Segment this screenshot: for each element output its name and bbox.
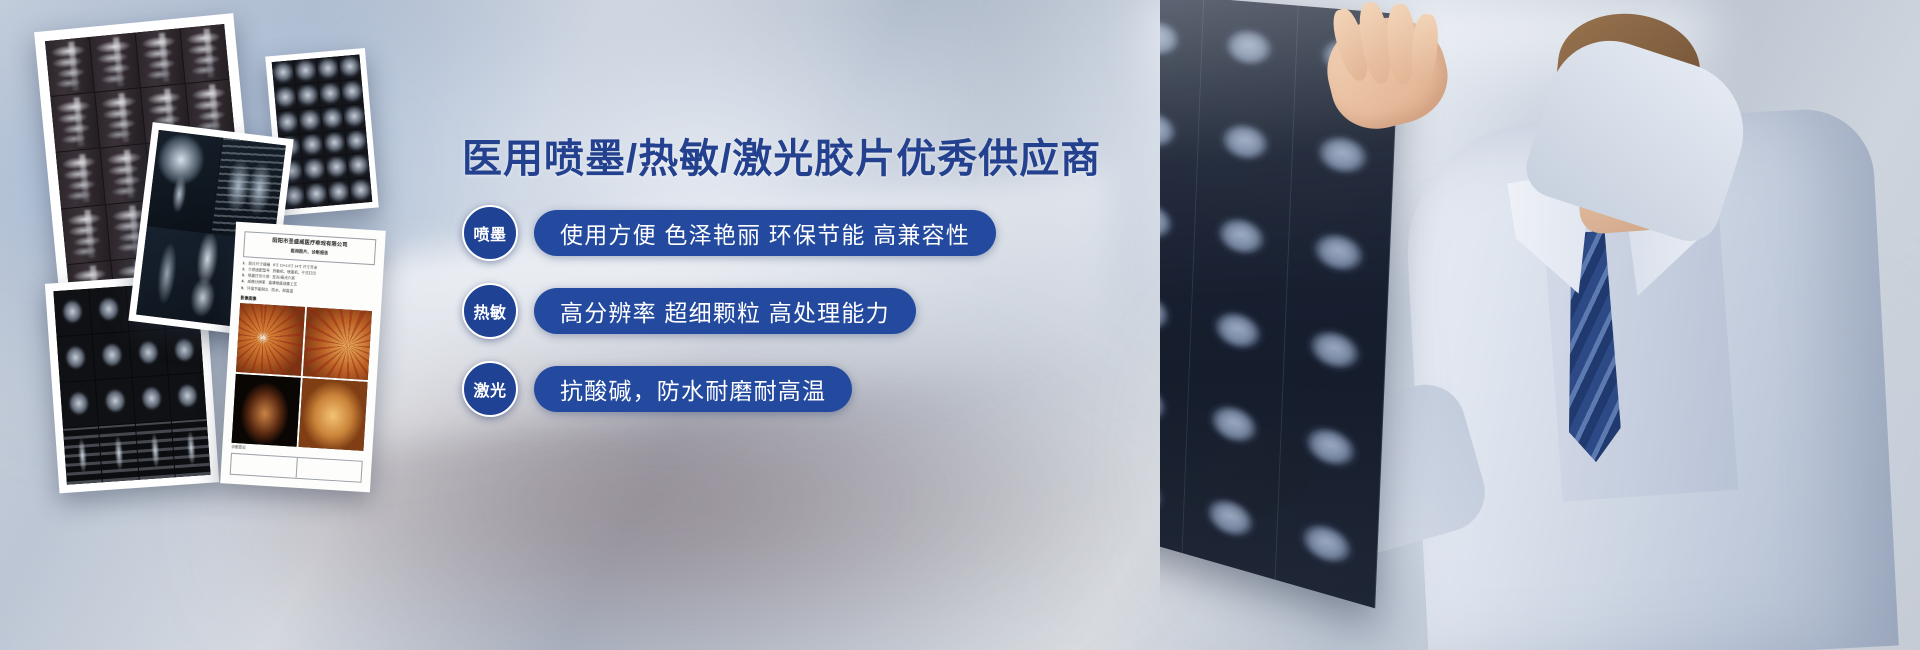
report-spec-list: 1. 胶片尺寸规格 8寸 10×14寸 14寸 尺寸齐全 2. 介质适配型号 热…: [241, 260, 375, 299]
report-line-label: 环保节能耐久: [247, 285, 269, 293]
medical-report-sheet: 阳阳市圣盛威医疗牵戏有限公司 医用胶片、诊断报告 1. 胶片尺寸规格 8寸 10…: [220, 222, 386, 493]
page-title: 医用喷墨/热敏/激光胶片优秀供应商: [462, 136, 1102, 183]
retina-fundus-image-left: [236, 303, 305, 376]
feature-tag-thermal: 热敏: [462, 283, 518, 339]
report-inner: 阳阳市圣盛威医疗牵戏有限公司 医用胶片、诊断报告 1. 胶片尺寸规格 8寸 10…: [230, 231, 377, 483]
feature-text-inkjet: 使用方便 色泽艳丽 环保节能 高兼容性: [534, 210, 996, 256]
report-line-value: 防水、耐高温: [271, 287, 293, 295]
report-line-no: 5.: [241, 285, 244, 291]
feature-row-thermal: 热敏 高分辨率 超细颗粒 高处理能力: [462, 283, 1102, 339]
feature-text-thermal: 高分辨率 超细颗粒 高处理能力: [534, 288, 916, 334]
banner-content: 医用喷墨/热敏/激光胶片优秀供应商 喷墨 使用方便 色泽艳丽 环保节能 高兼容性…: [462, 136, 1102, 417]
xray-skull-image: [147, 130, 222, 233]
feature-tag-laser: 激光: [462, 361, 518, 417]
feature-text-laser: 抗酸碱，防水耐磨耐高温: [534, 366, 852, 412]
ultrasound-image-right: [299, 378, 368, 451]
report-footer-table: [230, 453, 363, 483]
ultrasound-image-left: [232, 374, 301, 447]
doctor-figure: [1160, 0, 1920, 650]
medical-film-banner: 阳阳市圣盛威医疗牵戏有限公司 医用胶片、诊断报告 1. 胶片尺寸规格 8寸 10…: [0, 0, 1920, 650]
report-image-grid: [232, 303, 372, 451]
retina-fundus-image-right: [303, 307, 372, 380]
report-header: 阳阳市圣盛威医疗牵戏有限公司 医用胶片、诊断报告: [243, 231, 376, 265]
feature-row-laser: 激光 抗酸碱，防水耐磨耐高温: [462, 361, 1102, 417]
feature-row-inkjet: 喷墨 使用方便 色泽艳丽 环保节能 高兼容性: [462, 205, 1102, 261]
feature-tag-inkjet: 喷墨: [462, 205, 518, 261]
